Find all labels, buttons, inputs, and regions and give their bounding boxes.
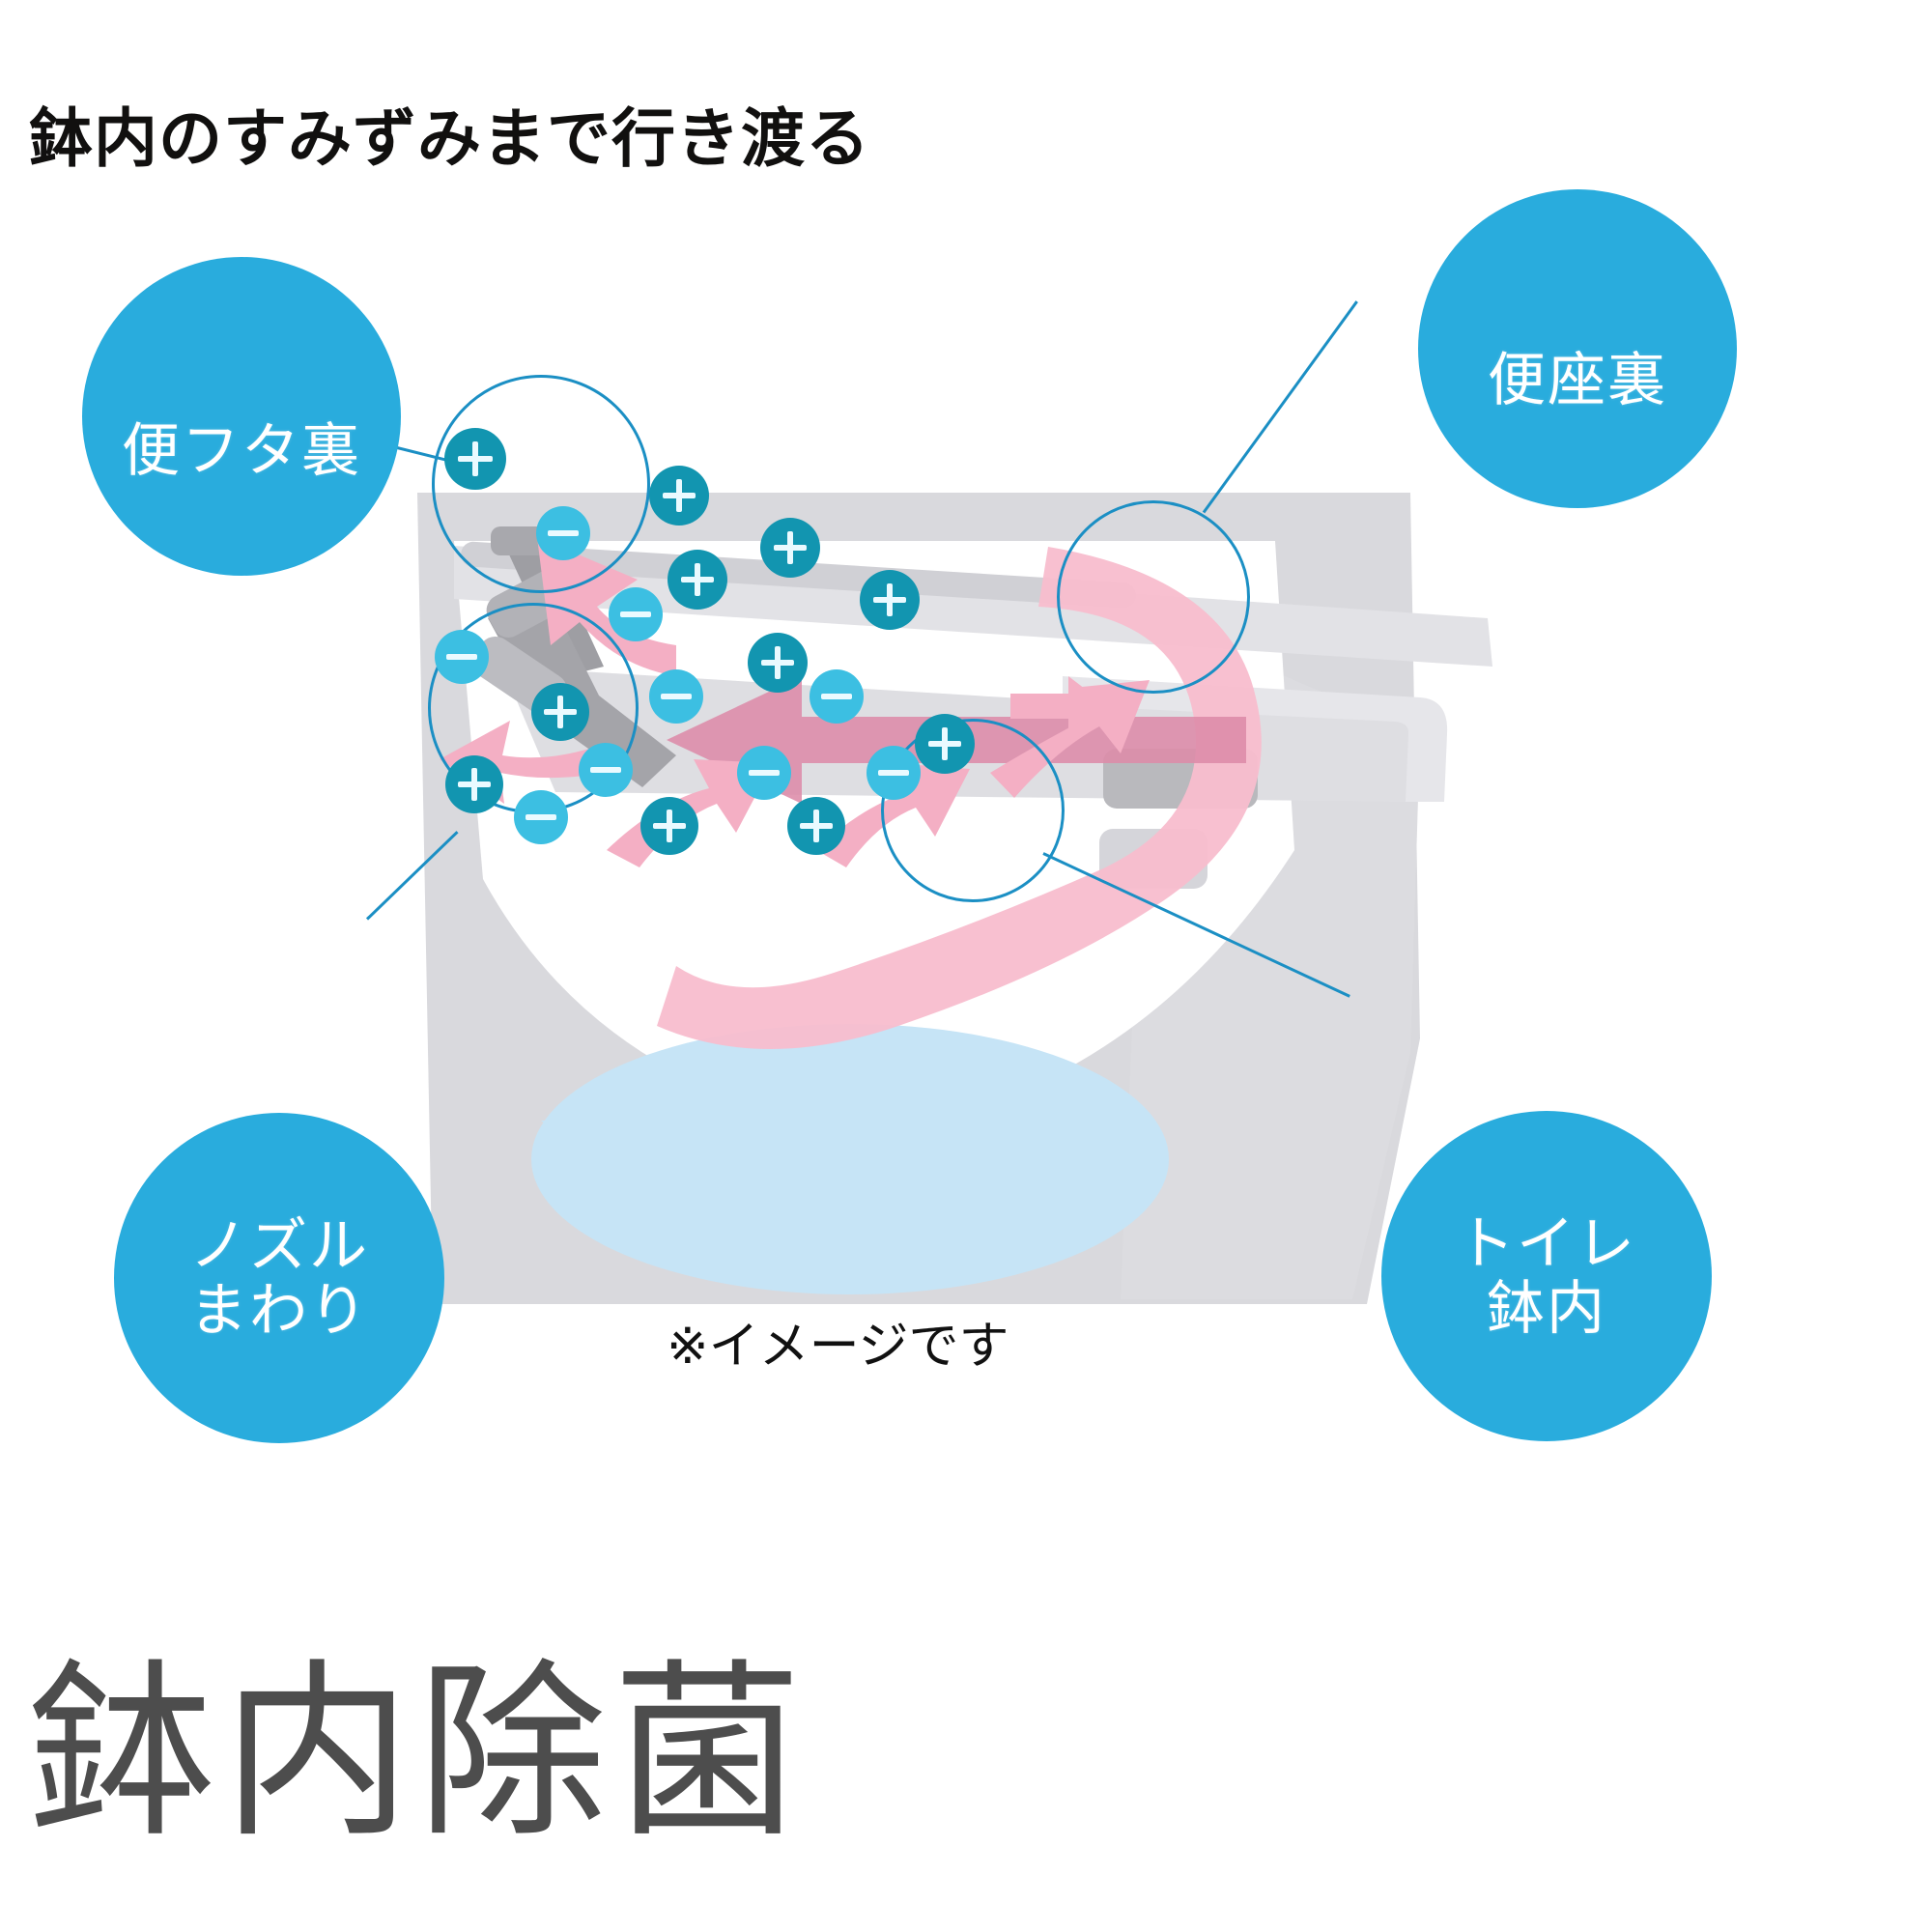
ion-glyph [867,746,921,800]
ion-glyph [444,428,506,490]
label-circle-lid-text: 便フタ裏 [122,349,361,483]
ion-glyph [748,633,808,693]
ion-glyph [640,797,698,855]
ion-minus-icon [867,746,921,800]
ion-glyph [649,669,703,724]
ion-minus-icon [810,669,864,724]
image-disclaimer-caption: ※イメージです [667,1321,1009,1372]
page-headline: 鉢内のすみずみまで行き渡る [29,106,870,170]
label-circle-toilet-lid-back[interactable]: 便フタ裏 [82,257,401,576]
ion-glyph [531,683,589,741]
ion-minus-icon [609,587,663,641]
ion-glyph [445,755,503,813]
label-circle-toilet-seat-back[interactable]: 便座裏 [1418,189,1737,508]
ion-minus-icon [579,743,633,797]
label-circle-inside-toilet-bowl[interactable]: トイレ 鉢内 [1381,1111,1712,1441]
ion-glyph [787,797,845,855]
leader-line-nozzle [366,831,459,920]
ion-plus-icon [668,550,727,610]
ion-glyph [760,518,820,578]
page-title: 鉢内除菌 [27,1647,808,1860]
ion-minus-icon [435,630,489,684]
ion-glyph [915,714,975,774]
label-circle-around-nozzle[interactable]: ノズル まわり [114,1113,444,1443]
ion-plus-icon [531,683,589,741]
ion-plus-icon [787,797,845,855]
ion-glyph [579,743,633,797]
ion-plus-icon [640,797,698,855]
ion-glyph [649,466,709,526]
ion-glyph [737,746,791,800]
label-circle-bowl-text: トイレ 鉢内 [1457,1211,1636,1341]
leader-line-seat [1203,300,1358,513]
ion-glyph [435,630,489,684]
ion-plus-icon [444,428,506,490]
ion-glyph [536,506,590,560]
ion-plus-icon [748,633,808,693]
ion-minus-icon [649,669,703,724]
ion-plus-icon [445,755,503,813]
ion-plus-icon [649,466,709,526]
leader-line-bowl [1042,852,1350,998]
label-circle-nozzle-text: ノズル まわり [189,1213,369,1343]
screenshot-root: 便フタ裏 便座裏 ノズル まわり トイレ 鉢内 鉢内のすみずみまで行き渡る ※イ… [0,0,1932,1932]
ion-plus-icon [760,518,820,578]
ion-minus-icon [514,790,568,844]
ion-minus-icon [536,506,590,560]
ion-glyph [810,669,864,724]
label-circle-seat-text: 便座裏 [1488,284,1667,412]
ion-plus-icon [860,570,920,630]
bowl-water [531,1024,1169,1294]
ion-glyph [514,790,568,844]
ion-glyph [609,587,663,641]
ion-minus-icon [737,746,791,800]
callout-circle-seat [1057,500,1250,694]
ion-glyph [668,550,727,610]
ion-glyph [860,570,920,630]
ion-plus-icon [915,714,975,774]
